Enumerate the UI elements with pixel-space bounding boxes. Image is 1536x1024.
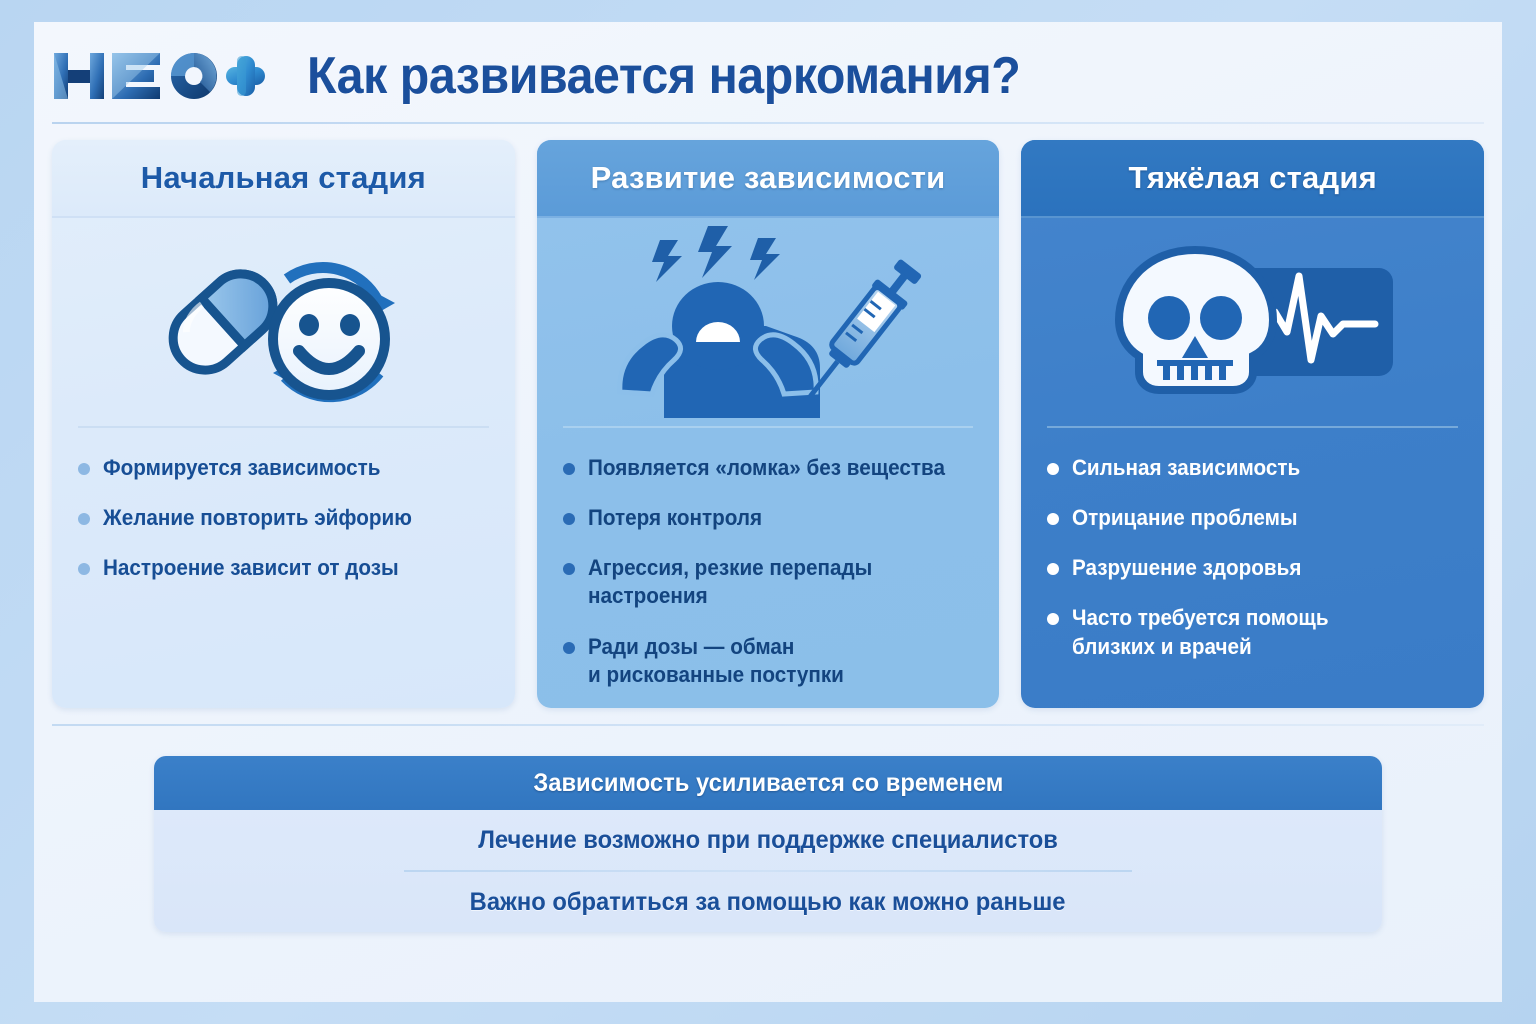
poster-inner-panel: Как развивается наркомания? Начальная ст…	[34, 22, 1502, 1002]
bullet-text: Формируется зависимость	[103, 454, 381, 482]
bullet-dot	[563, 642, 575, 654]
bullet-text: Сильная зависимость	[1072, 454, 1300, 482]
bullet-dot	[78, 513, 90, 525]
bullet-text: Настроение зависит от дозы	[103, 554, 399, 582]
stage-card-severe[interactable]: Тяжёлая стадия	[1021, 140, 1484, 708]
list-item: Появляется «ломка» без вещества	[563, 454, 978, 482]
pill-smiley-cycle-icon	[52, 218, 515, 426]
stage-cards: Начальная стадия	[34, 130, 1502, 708]
bullet-dot	[1047, 563, 1059, 575]
summary-row-text: Важно обратиться за помощью как можно ра…	[470, 888, 1066, 917]
list-item: Сильная зависимость	[1047, 454, 1462, 482]
list-item: Разрушение здоровья	[1047, 554, 1462, 582]
list-item: Желание повторить эйфорию	[78, 504, 493, 532]
bullet-text: Потеря контроля	[588, 504, 762, 532]
bullet-dot	[1047, 613, 1059, 625]
bullet-text: Агрессия, резкие перепады настроения	[588, 554, 954, 610]
summary-section: Зависимость усиливается со временем Лече…	[34, 726, 1502, 1002]
bullet-dot	[78, 563, 90, 575]
list-item: Формируется зависимость	[78, 454, 493, 482]
stage-card-development[interactable]: Развитие зависимости	[537, 140, 1000, 708]
summary-row: Лечение возможно при поддержке специалис…	[154, 810, 1382, 870]
card-bullets-development: Появляется «ломка» без вещества Потеря к…	[537, 428, 1000, 708]
bullet-dot	[1047, 513, 1059, 525]
stage-card-initial[interactable]: Начальная стадия	[52, 140, 515, 708]
bullet-text: Ради дозы — обман и рискованные поступки	[588, 633, 844, 689]
summary-row-text: Лечение возможно при поддержке специалис…	[478, 826, 1058, 855]
list-item: Ради дозы — обман и рискованные поступки	[563, 633, 978, 689]
list-item: Агрессия, резкие перепады настроения	[563, 554, 978, 610]
bullet-text: Появляется «ломка» без вещества	[588, 454, 945, 482]
bullet-text: Отрицание проблемы	[1072, 504, 1298, 532]
list-item: Потеря контроля	[563, 504, 978, 532]
summary-heading: Зависимость усиливается со временем	[154, 756, 1382, 810]
skull-ecg-monitor-icon	[1021, 218, 1484, 426]
bullet-text: Желание повторить эйфорию	[103, 504, 412, 532]
list-item: Отрицание проблемы	[1047, 504, 1462, 532]
neo-plus-logo	[52, 45, 267, 107]
bullet-dot	[78, 463, 90, 475]
summary-heading-text: Зависимость усиливается со временем	[533, 769, 1003, 798]
infographic-poster: Как развивается наркомания? Начальная ст…	[0, 0, 1536, 1024]
card-title-initial: Начальная стадия	[52, 140, 515, 218]
bullet-text: Разрушение здоровья	[1072, 554, 1301, 582]
card-title-development: Развитие зависимости	[537, 140, 1000, 218]
bullet-dot	[563, 563, 575, 575]
page-title: Как развивается наркомания?	[307, 46, 1020, 106]
header-divider	[52, 122, 1484, 124]
bullet-dot	[563, 463, 575, 475]
card-title-severe: Тяжёлая стадия	[1021, 140, 1484, 218]
summary-panel: Зависимость усиливается со временем Лече…	[154, 756, 1382, 932]
list-item: Настроение зависит от дозы	[78, 554, 493, 582]
stressed-person-syringe-icon	[537, 218, 1000, 426]
bullet-dot	[1047, 463, 1059, 475]
card-bullets-severe: Сильная зависимость Отрицание проблемы Р…	[1021, 428, 1484, 708]
list-item: Часто требуется помощь близких и врачей	[1047, 604, 1462, 660]
bullet-dot	[563, 513, 575, 525]
poster-header: Как развивается наркомания?	[34, 22, 1502, 130]
bullet-text: Часто требуется помощь близких и врачей	[1072, 604, 1329, 660]
card-bullets-initial: Формируется зависимость Желание повторит…	[52, 428, 515, 708]
summary-row: Важно обратиться за помощью как можно ра…	[154, 872, 1382, 932]
